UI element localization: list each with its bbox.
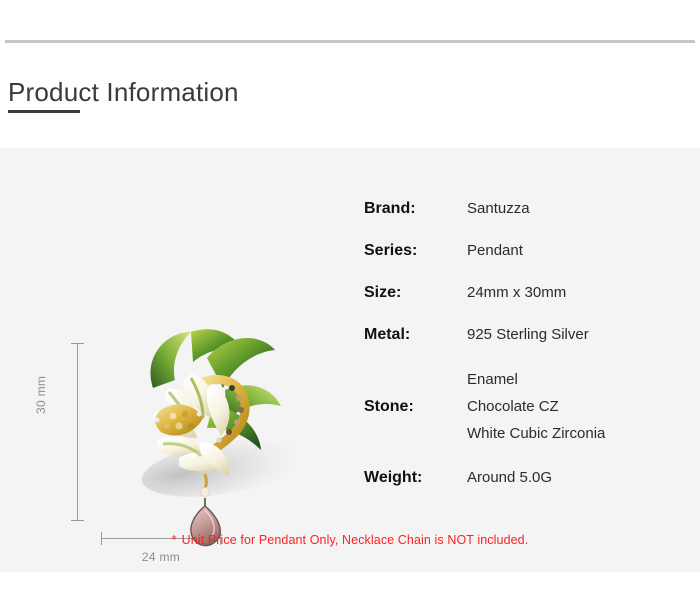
spec-value-weight: Around 5.0G	[467, 467, 552, 489]
spec-value-series: Pendant	[467, 240, 523, 262]
spec-value-stone-line-1: Enamel	[467, 366, 605, 393]
product-figure: 30 mm 24 mm	[40, 238, 340, 578]
spec-label-stone: Stone:	[364, 396, 467, 418]
spec-label-weight: Weight:	[364, 467, 467, 489]
footnote-asterisk: *	[172, 533, 177, 547]
spec-value-stone-line-2: Chocolate CZ	[467, 393, 605, 420]
spec-value-stone: Enamel Chocolate CZ White Cubic Zirconia	[467, 366, 605, 447]
height-measure-label: 30 mm	[34, 376, 48, 414]
product-information-panel: 30 mm 24 mm	[0, 148, 700, 572]
spec-label-brand: Brand:	[364, 198, 467, 220]
spec-label-series: Series:	[364, 240, 467, 262]
width-measure-label: 24 mm	[101, 550, 221, 564]
spec-value-brand: Santuzza	[467, 198, 530, 220]
price-footnote: *Unit Price for Pendant Only, Necklace C…	[0, 533, 700, 547]
spec-row-brand: Brand: Santuzza	[364, 198, 684, 220]
page-title: Product Information	[8, 76, 239, 108]
spec-row-metal: Metal: 925 Sterling Silver	[364, 324, 684, 346]
spec-row-size: Size: 24mm x 30mm	[364, 282, 684, 304]
page-title-underline	[8, 110, 80, 113]
height-measure-line	[77, 343, 78, 521]
specification-list: Brand: Santuzza Series: Pendant Size: 24…	[364, 198, 684, 509]
spec-value-size: 24mm x 30mm	[467, 282, 566, 304]
product-image-pendant	[95, 318, 295, 548]
spec-value-metal: 925 Sterling Silver	[467, 324, 589, 346]
spec-row-stone: Stone: Enamel Chocolate CZ White Cubic Z…	[364, 366, 684, 447]
spec-row-weight: Weight: Around 5.0G	[364, 467, 684, 489]
spec-label-metal: Metal:	[364, 324, 467, 346]
spec-label-size: Size:	[364, 282, 467, 304]
spec-row-series: Series: Pendant	[364, 240, 684, 262]
spec-value-stone-line-3: White Cubic Zirconia	[467, 420, 605, 447]
top-divider	[5, 40, 695, 43]
footnote-text: Unit Price for Pendant Only, Necklace Ch…	[182, 533, 529, 547]
